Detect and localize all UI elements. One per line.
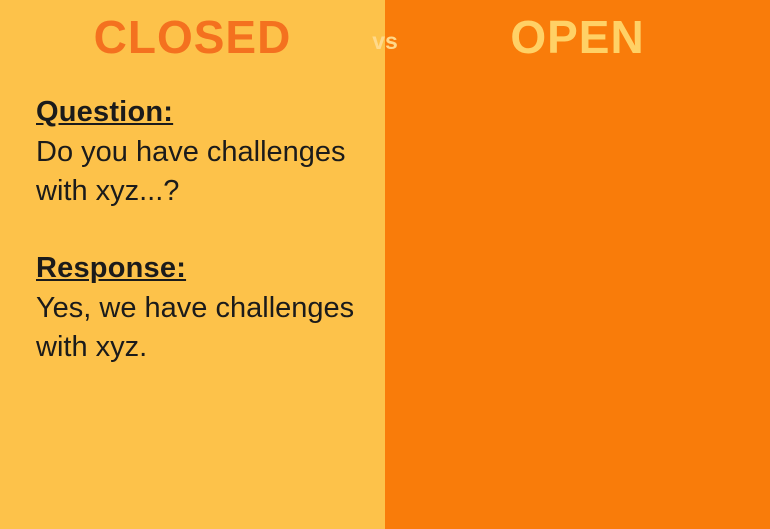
closed-spacer bbox=[36, 211, 366, 251]
slide-closed-vs-open: Question: Do you have challenges with xy… bbox=[0, 0, 770, 529]
closed-response-text: Yes, we have challenges with xyz. bbox=[36, 289, 366, 367]
closed-response-label: Response: bbox=[36, 251, 366, 285]
closed-question-text: Do you have challenges with xyz...? bbox=[36, 133, 366, 211]
panel-closed: Question: Do you have challenges with xy… bbox=[0, 0, 385, 529]
closed-question-label: Question: bbox=[36, 95, 366, 129]
panel-open: Question: What are your departmental cha… bbox=[385, 0, 770, 529]
closed-content: Question: Do you have challenges with xy… bbox=[36, 95, 366, 367]
